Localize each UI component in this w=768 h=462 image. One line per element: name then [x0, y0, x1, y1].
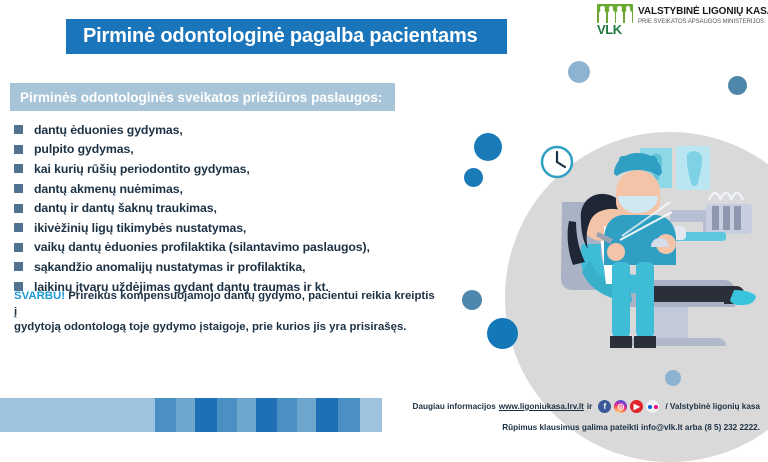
page-title: Pirminė odontologinė pagalba pacientams	[66, 19, 507, 54]
footer: Daugiau informacijos www.ligoniukasa.lrv…	[413, 400, 760, 435]
footer-and-label: ir	[587, 402, 592, 411]
decorative-dot	[487, 318, 518, 349]
footer-line2: Rūpimus klausimus galima pateikti info@v…	[413, 417, 760, 435]
decorative-dot	[474, 133, 502, 161]
decorative-dot	[665, 370, 681, 386]
decorative-dot	[464, 168, 483, 187]
important-note-text1: Prireikus kompensuojamojo dantų gydymo, …	[14, 290, 435, 318]
services-band-title: Pirminės odontologinės sveikatos priežiū…	[10, 90, 382, 105]
logo-line2: PRIE SVEIKATOS APSAUGOS MINISTERIJOS	[638, 18, 768, 27]
website-link[interactable]: www.ligoniukasa.lrv.lt	[499, 402, 584, 411]
services-list: dantų ėduonies gydymas, pulpito gydymas,…	[14, 120, 434, 296]
important-note-line2: gydytoją odontologą toje gydymo įstaigoj…	[14, 320, 439, 336]
contact-text: Rūpimus klausimus galima pateikti info@v…	[502, 423, 760, 432]
logo-wordmark: VALSTYBINĖ LIGONIŲ KASA PRIE SVEIKATOS A…	[638, 4, 768, 27]
list-item-label: dantų ir dantų šaknų traukimas,	[34, 201, 217, 215]
list-item: dantų ir dantų šaknų traukimas,	[14, 198, 434, 218]
list-item: ikivėžinių ligų tikimybės nustatymas,	[14, 218, 434, 238]
bullet-square-icon	[14, 223, 23, 232]
decorative-stripe	[0, 398, 382, 432]
stripe-segment	[256, 398, 277, 432]
footer-line1: Daugiau informacijos www.ligoniukasa.lrv…	[413, 400, 760, 413]
list-item: pulpito gydymas,	[14, 140, 434, 160]
stripe-segment	[0, 398, 155, 432]
bullet-square-icon	[14, 184, 23, 193]
stripe-segment	[338, 398, 360, 432]
decorative-dot	[568, 61, 590, 83]
flickr-icon[interactable]	[646, 400, 659, 413]
bullet-square-icon	[14, 262, 23, 271]
facebook-icon[interactable]: f	[598, 400, 611, 413]
bullet-square-icon	[14, 125, 23, 134]
dentist-treating-patient-illustration	[520, 140, 768, 360]
list-item-label: vaikų dantų ėduonies profilaktika (silan…	[34, 240, 370, 254]
bullet-square-icon	[14, 164, 23, 173]
bullet-square-icon	[14, 204, 23, 213]
important-note-line1: SVARBU! Prireikus kompensuojamojo dantų …	[14, 289, 439, 320]
page-title-text: Pirminė odontologinė pagalba pacientams	[66, 25, 478, 48]
bullet-square-icon	[14, 145, 23, 154]
footer-more-info-label: Daugiau informacijos	[413, 402, 496, 411]
stripe-segment	[217, 398, 237, 432]
stripe-segment	[176, 398, 195, 432]
decorative-dot	[728, 76, 747, 95]
poster-canvas: Pirminė odontologinė pagalba pacientams …	[0, 0, 768, 432]
list-item-label: dantų ėduonies gydymas,	[34, 123, 183, 137]
list-item-label: pulpito gydymas,	[34, 142, 134, 156]
list-item: dantų ėduonies gydymas,	[14, 120, 434, 140]
decorative-dot	[462, 290, 482, 310]
stripe-segment	[297, 398, 316, 432]
instagram-icon[interactable]: ◎	[614, 400, 627, 413]
stripe-segment	[277, 398, 297, 432]
youtube-icon[interactable]: ▶	[630, 400, 643, 413]
stripe-segment	[155, 398, 176, 432]
bullet-square-icon	[14, 243, 23, 252]
stripe-segment	[316, 398, 338, 432]
people-icon	[597, 4, 633, 23]
list-item-label: kai kurių rūšių periodontito gydymas,	[34, 162, 250, 176]
social-handle: / Valstybinė ligonių kasa	[665, 402, 760, 411]
vlk-logo: VLK VALSTYBINĖ LIGONIŲ KASA PRIE SVEIKAT…	[597, 4, 768, 37]
list-item-label: dantų akmenų nuėmimas,	[34, 182, 183, 196]
list-item: dantų akmenų nuėmimas,	[14, 179, 434, 199]
social-links: f ◎ ▶	[598, 400, 659, 413]
stripe-segment	[195, 398, 217, 432]
important-note: SVARBU! Prireikus kompensuojamojo dantų …	[14, 289, 439, 336]
stripe-segment	[360, 398, 382, 432]
stripe-segment	[237, 398, 256, 432]
list-item: sąkandžio anomalijų nustatymas ir profil…	[14, 257, 434, 277]
list-item-label: ikivėžinių ligų tikimybės nustatymas,	[34, 221, 246, 235]
logo-acronym: VLK	[597, 23, 633, 37]
list-item: kai kurių rūšių periodontito gydymas,	[14, 159, 434, 179]
services-band: Pirminės odontologinės sveikatos priežiū…	[10, 83, 395, 111]
logo-line1: VALSTYBINĖ LIGONIŲ KASA	[638, 6, 768, 18]
list-item-label: sąkandžio anomalijų nustatymas ir profil…	[34, 260, 305, 274]
important-note-highlight: SVARBU!	[14, 290, 65, 302]
logo-mark: VLK	[597, 4, 633, 37]
list-item: vaikų dantų ėduonies profilaktika (silan…	[14, 238, 434, 258]
